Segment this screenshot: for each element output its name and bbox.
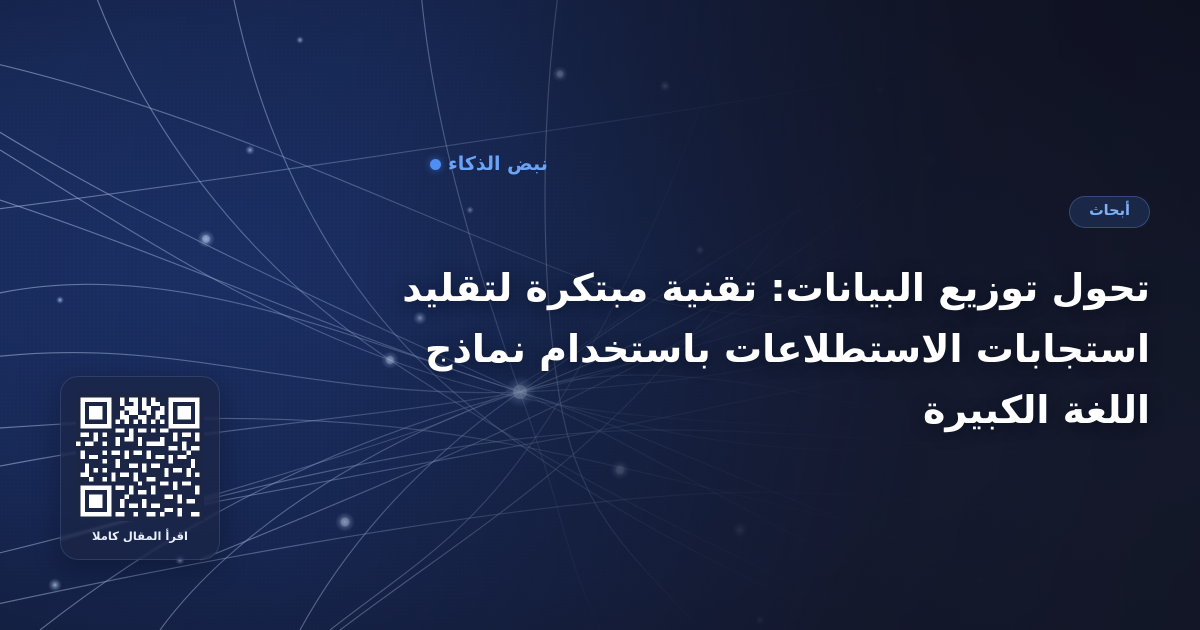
content-stack: نبض الذكاء أبحاث تحول توزيع البيانات: تق… (430, 155, 1150, 441)
page-title: تحول توزيع البيانات: تقنية مبتكرة لتقليد… (430, 258, 1150, 441)
headline-line-2: استجابات الاستطلاعات باستخدام نماذج (430, 319, 1150, 380)
badge-row: أبحاث (430, 196, 1150, 228)
headline-line-1: تحول توزيع البيانات: تقنية مبتكرة لتقليد (430, 258, 1150, 319)
social-share-card: اقرأ المقال كاملا نبض الذكاء أبحاث تحول … (0, 0, 1200, 630)
brand-dot-icon (430, 159, 441, 170)
qr-card-caption: اقرأ المقال كاملا (92, 531, 188, 543)
category-badge[interactable]: أبحاث (1069, 196, 1150, 228)
headline-line-3: اللغة الكبيرة (430, 380, 1150, 441)
qr-code-icon[interactable] (76, 393, 204, 521)
brand-row[interactable]: نبض الذكاء (430, 155, 1150, 174)
brand-name: نبض الذكاء (448, 155, 548, 174)
qr-code-card[interactable]: اقرأ المقال كاملا (60, 376, 220, 560)
